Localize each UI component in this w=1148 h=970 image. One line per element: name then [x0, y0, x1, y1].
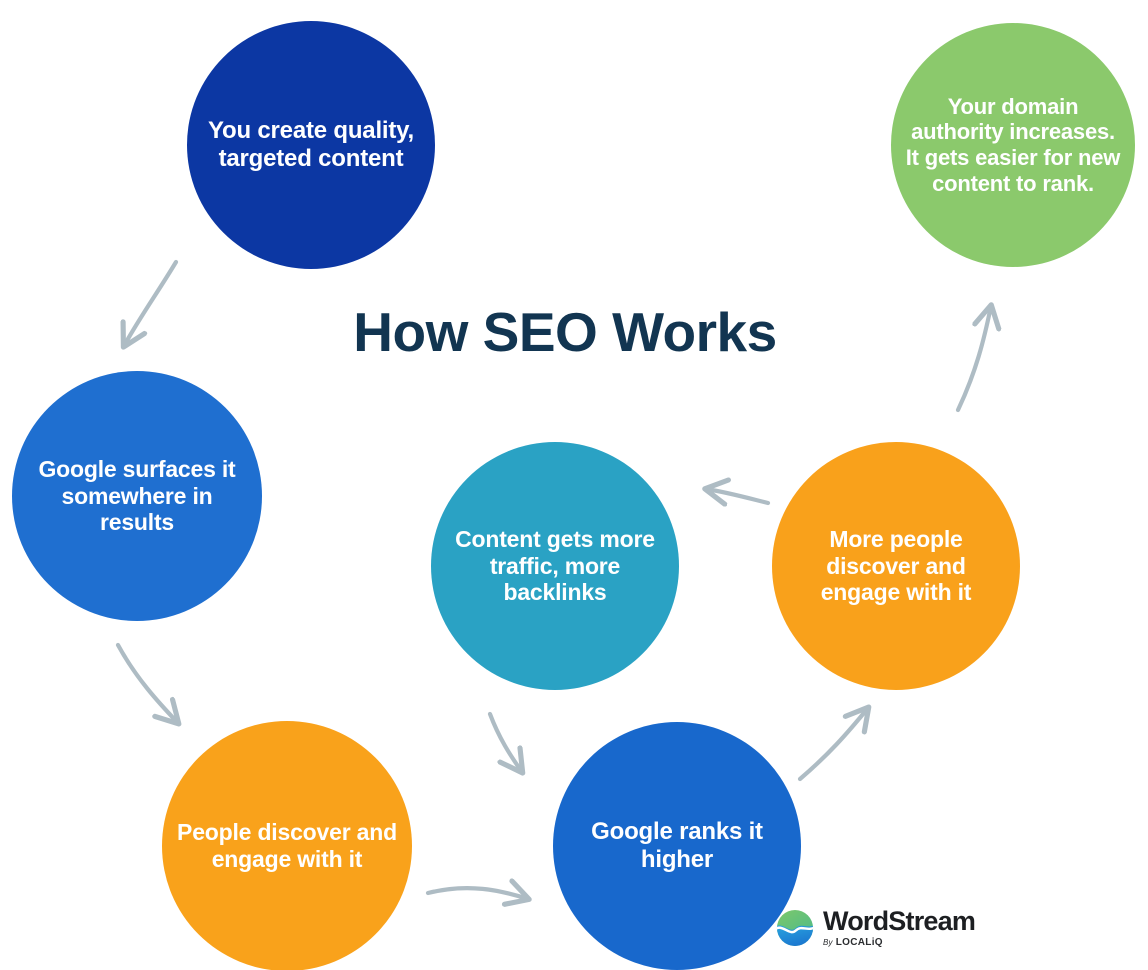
wordstream-logo[interactable]: WordStream By LOCALiQ	[776, 908, 975, 948]
node-label: Your domain authority increases. It gets…	[891, 94, 1135, 197]
arrow-create-to-surfaces	[124, 262, 176, 346]
node-domain-authority[interactable]: Your domain authority increases. It gets…	[891, 23, 1135, 267]
wordstream-logo-text: WordStream By LOCALiQ	[823, 908, 975, 948]
logo-brand: LOCALiQ	[836, 938, 883, 948]
arrow-ranks-to-more-people	[800, 708, 868, 779]
node-label: You create quality, targeted content	[187, 117, 435, 173]
node-label: People discover and engage with it	[162, 819, 412, 873]
page-title: How SEO Works	[240, 305, 890, 360]
logo-by: By	[823, 939, 833, 947]
node-label: Google surfaces it somewhere in results	[12, 456, 262, 537]
arrow-people-to-ranks	[428, 888, 528, 899]
node-google-ranks[interactable]: Google ranks it higher	[553, 722, 801, 970]
node-google-surfaces[interactable]: Google surfaces it somewhere in results	[12, 371, 262, 621]
arrow-more-people-to-authority	[958, 306, 991, 410]
arrow-content-to-ranks	[490, 714, 522, 772]
node-more-people[interactable]: More people discover and engage with it	[772, 442, 1020, 690]
node-label: Content gets more traffic, more backlink…	[431, 526, 679, 607]
logo-wordmark: WordStream	[823, 908, 975, 935]
logo-tagline: By LOCALiQ	[823, 938, 975, 948]
node-label: More people discover and engage with it	[772, 526, 1020, 607]
arrow-more-people-to-content	[706, 489, 768, 503]
seo-infographic: You create quality, targeted content Goo…	[0, 0, 1148, 970]
node-label: Google ranks it higher	[553, 818, 801, 874]
wordstream-logo-icon	[776, 909, 814, 947]
node-people-discover[interactable]: People discover and engage with it	[162, 721, 412, 970]
arrow-surfaces-to-people	[118, 645, 178, 723]
node-create-content[interactable]: You create quality, targeted content	[187, 21, 435, 269]
node-content-traffic[interactable]: Content gets more traffic, more backlink…	[431, 442, 679, 690]
